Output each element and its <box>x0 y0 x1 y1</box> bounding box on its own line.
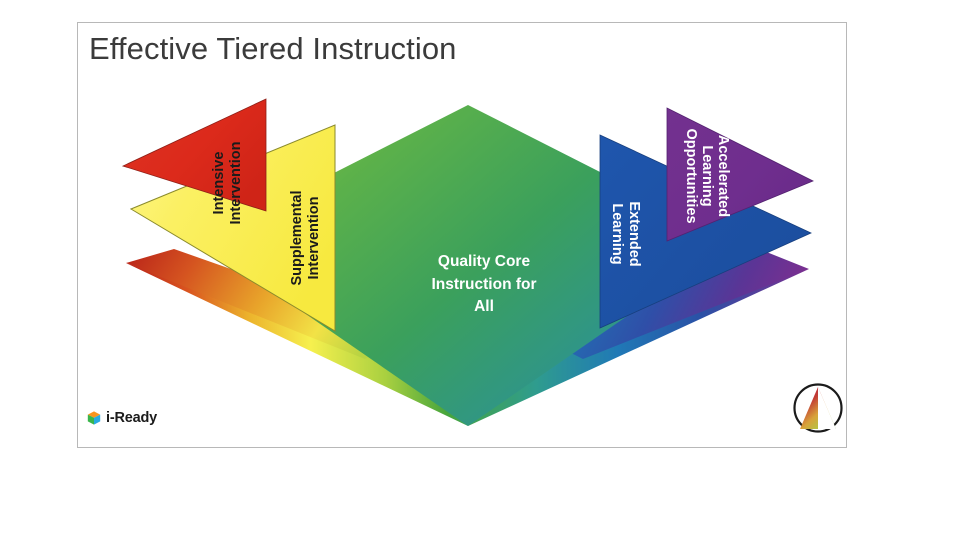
tiered-instruction-diagram <box>78 23 847 448</box>
brand-name: i-Ready <box>106 410 157 426</box>
slide-frame: Effective Tiered Instruction <box>77 22 847 448</box>
brand-logo: i-Ready <box>86 410 157 426</box>
cube-icon <box>86 410 102 426</box>
triangle-circle-logo-icon <box>792 382 844 434</box>
